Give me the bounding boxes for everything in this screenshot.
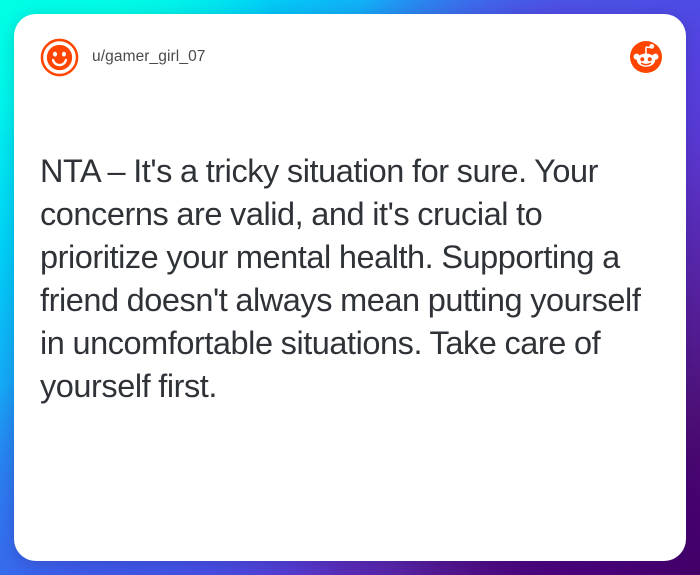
reddit-post-card: u/gamer_girl_07 NTA – It's a tricky situ… [14,14,686,561]
reddit-snoo-logo-icon[interactable] [630,41,662,73]
username-label: u/gamer_girl_07 [92,48,206,66]
smiley-face-avatar-icon[interactable] [40,38,79,77]
post-header: u/gamer_girl_07 [14,14,686,100]
post-text: NTA – It's a tricky situation for sure. … [40,150,660,408]
gradient-background: u/gamer_girl_07 NTA – It's a tricky situ… [0,0,700,575]
